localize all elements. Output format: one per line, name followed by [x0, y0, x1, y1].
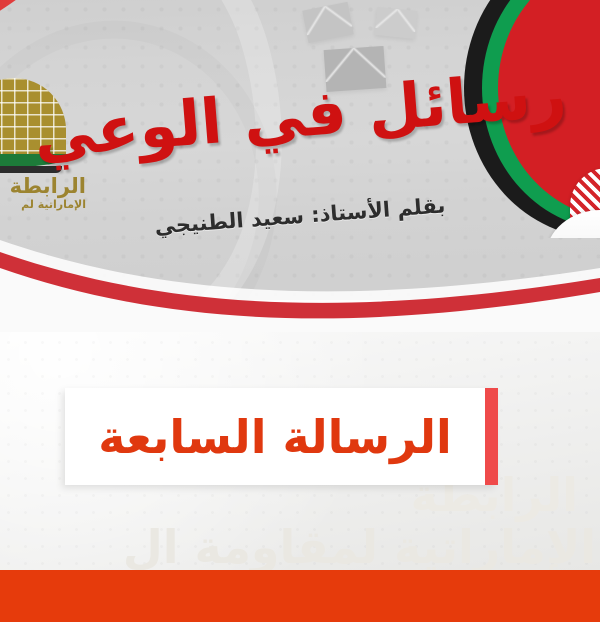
poster-root: الرابطة الإماراتية لمقاومة ال ا — [0, 0, 600, 622]
envelope-icon — [375, 7, 418, 39]
watermark-line-2: الإماراتية لمقاومة ال — [4, 522, 596, 574]
section-headline: الرسالة السابعة — [65, 388, 485, 485]
red-wave-ribbon — [0, 222, 600, 332]
logo-name-text: الرابطة — [0, 174, 86, 198]
headline-accent-bar — [485, 388, 498, 485]
logo-subtitle-text: الإماراتية لم — [0, 198, 86, 211]
footer-bar — [0, 570, 600, 622]
background-watermark: الرابطة الإماراتية لمقاومة ال — [4, 470, 596, 573]
